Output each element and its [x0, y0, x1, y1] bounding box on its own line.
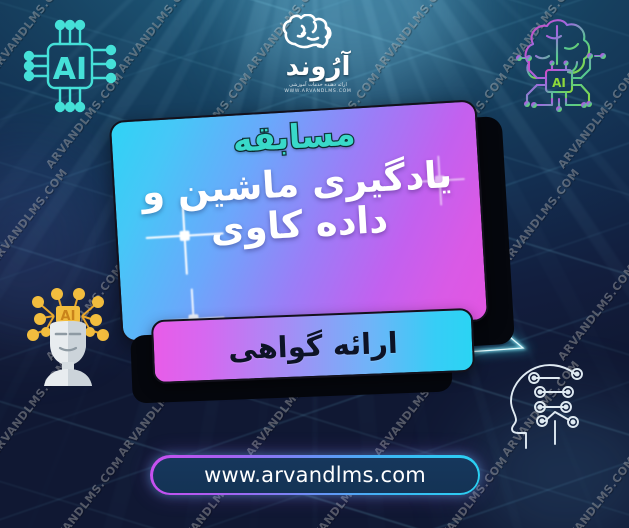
sub-card[interactable]: ارائه گواهی [151, 308, 475, 384]
logo-url: WWW.ARVANDLMS.COM [262, 89, 374, 94]
watermark-text: ARVANDLMS.COM [556, 454, 629, 528]
watermark-text: ARVANDLMS.COM [0, 166, 70, 267]
brand-logo[interactable]: آرُوند ارائه دهنده خدمات آموزشی WWW.ARVA… [262, 14, 374, 106]
main-card[interactable]: مسابقه یادگیری ماشین و داده کاوی [109, 99, 490, 342]
poster-canvas: ARVANDLMS.COMARVANDLMS.COMARVANDLMS.COMA… [0, 0, 629, 528]
watermark-text: ARVANDLMS.COM [500, 166, 583, 267]
logo-tagline: ارائه دهنده خدمات آموزشی [262, 82, 374, 88]
neural-head-profile-icon [497, 358, 601, 454]
chip-label: AI [53, 52, 87, 87]
watermark-text: ARVANDLMS.COM [44, 454, 127, 528]
main-card-title: یادگیری ماشین و داده کاوی [114, 152, 482, 256]
robot-head-icon: AI [16, 286, 120, 386]
website-url-inner: www.arvandlms.com [153, 458, 478, 493]
website-url-pill[interactable]: www.arvandlms.com [150, 455, 480, 495]
watermark-text: ARVANDLMS.COM [372, 0, 455, 75]
watermark-text: ARVANDLMS.COM [556, 262, 629, 363]
brain-icon [282, 14, 354, 56]
ai-chip-icon: AI [18, 14, 122, 118]
logo-brand-text: آرُوند [262, 54, 374, 80]
ai-brain-circuit-icon: AI [499, 8, 619, 120]
website-url-text: www.arvandlms.com [204, 463, 426, 487]
brain-chip-label: AI [552, 76, 566, 90]
watermark-text: ARVANDLMS.COM [116, 0, 199, 75]
sub-card-text: ارائه گواهی [228, 328, 399, 363]
